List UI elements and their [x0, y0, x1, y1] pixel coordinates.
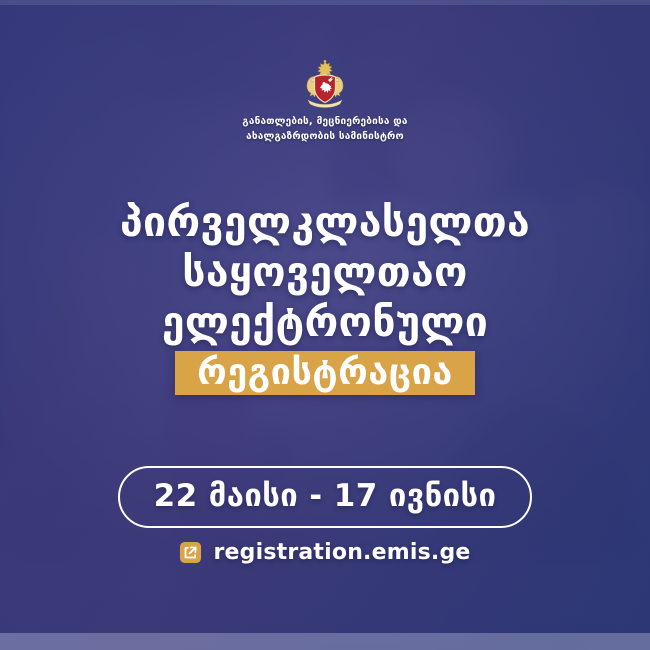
- highlight-row: რეგისტრაცია: [0, 351, 650, 395]
- registration-url-text[interactable]: registration.emis.ge: [213, 540, 470, 565]
- registration-poster: განათლების, მეცნიერებისა და ახალგაზრდობი…: [0, 0, 650, 650]
- ministry-name: განათლების, მეცნიერებისა და ახალგაზრდობი…: [0, 115, 650, 144]
- headline-line-1: პირველკლასელთა: [0, 197, 650, 247]
- georgia-coat-of-arms-icon: [299, 60, 351, 108]
- registration-link[interactable]: registration.emis.ge: [0, 540, 650, 565]
- date-row: 22 მაისი - 17 ივნისი: [0, 466, 650, 528]
- external-link-icon[interactable]: [179, 541, 202, 564]
- ministry-name-line2: ახალგაზრდობის სამინისტრო: [0, 130, 650, 145]
- ministry-name-line1: განათლების, მეცნიერებისა და: [0, 115, 650, 130]
- date-range-pill: 22 მაისი - 17 ივნისი: [118, 466, 533, 528]
- page-title: პირველკლასელთა საყოველთაო ელექტრონული: [0, 197, 650, 347]
- ministry-brand: განათლების, მეცნიერებისა და ახალგაზრდობი…: [0, 60, 650, 144]
- headline-line-3: ელექტრონული: [0, 297, 650, 347]
- registration-highlight: რეგისტრაცია: [175, 351, 475, 395]
- headline-line-2: საყოველთაო: [0, 247, 650, 297]
